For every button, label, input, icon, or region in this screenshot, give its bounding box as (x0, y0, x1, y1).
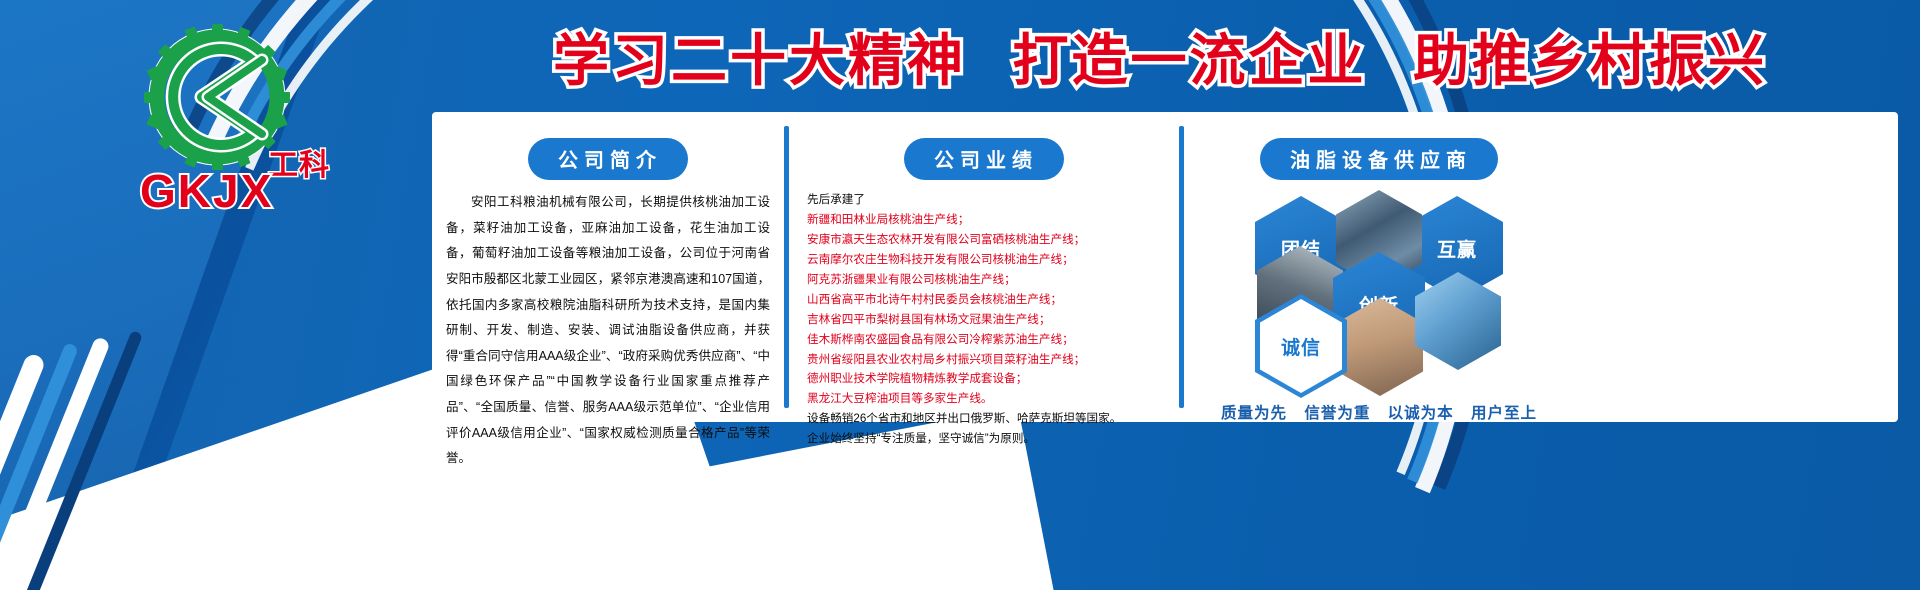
performance-project: 山西省高平市北诗午村村民委员会核桃油生产线； (807, 290, 1165, 310)
logo-chinese-name: 工科 (268, 140, 330, 184)
panel-company-intro-badge: 公司简介 (528, 138, 688, 180)
tagline-word: 以诚为本 (1388, 405, 1454, 422)
performance-lead: 先后承建了 (807, 190, 1165, 210)
company-logo: 工科 GKJX (118, 22, 348, 212)
panel-company-performance: 公司业绩 先后承建了 新疆和田林业局核桃油生产线； 安康市瀛天生态农林开发有限公… (789, 112, 1179, 422)
panel-company-intro-body: 安阳工科粮油机械有限公司，长期提供核桃油加工设备，菜籽油加工设备，亚麻油加工设备… (446, 190, 770, 472)
hexagon-cluster: 团结 互赢 创新 诚信 (1199, 190, 1559, 385)
supplier-tagline: 质量为先 信誉为重 以诚为本 用户至上 (1198, 401, 1560, 423)
performance-project: 佳木斯桦南农盛园食品有限公司冷榨紫苏油生产线； (807, 330, 1165, 350)
tagline-word: 用户至上 (1471, 405, 1537, 422)
content-board: 公司简介 安阳工科粮油机械有限公司，长期提供核桃油加工设备，菜籽油加工设备，亚麻… (432, 112, 1898, 422)
headline-part-1: 学习二十大精神 (553, 29, 966, 92)
banner-canvas: 工科 GKJX 学习二十大精神 打造一流企业 助推乡村振兴 公司简介 安阳工科粮… (0, 0, 1920, 590)
headline-part-2: 打造一流企业 (1013, 29, 1367, 92)
building-photo-hex (1415, 272, 1501, 370)
hex-label: 诚信 (1255, 294, 1347, 398)
panel-supplier-badge: 油脂设备供应商 (1260, 138, 1498, 180)
performance-project: 阿克苏浙疆果业有限公司核桃油生产线； (807, 270, 1165, 290)
tagline-word: 信誉为重 (1304, 405, 1370, 422)
panel-company-performance-body: 先后承建了 新疆和田林业局核桃油生产线； 安康市瀛天生态农林开发有限公司富硒核桃… (803, 190, 1165, 449)
headline-part-3: 助推乡村振兴 (1413, 29, 1767, 92)
performance-project: 新疆和田林业局核桃油生产线； (807, 210, 1165, 230)
performance-tail-line: 企业始终坚持“专注质量，坚守诚信”为原则。 (807, 429, 1165, 449)
panel-company-performance-badge: 公司业绩 (904, 138, 1064, 180)
performance-project: 贵州省绥阳县农业农村局乡村振兴项目菜籽油生产线； (807, 350, 1165, 370)
panel-company-intro: 公司简介 安阳工科粮油机械有限公司，长期提供核桃油加工设备，菜籽油加工设备，亚麻… (432, 112, 784, 422)
company-intro-paragraph: 安阳工科粮油机械有限公司，长期提供核桃油加工设备，菜籽油加工设备，亚麻油加工设备… (446, 190, 770, 472)
tagline-word: 质量为先 (1221, 405, 1287, 422)
hex-value-chengxin: 诚信 (1255, 294, 1347, 398)
performance-project: 黑龙江大豆榨油项目等多家生产线。 (807, 389, 1165, 409)
performance-project: 德州职业技术学院植物精炼教学成套设备； (807, 369, 1165, 389)
performance-tail-line: 设备畅销26个省市和地区并出口俄罗斯、哈萨克斯坦等国家。 (807, 409, 1165, 429)
performance-project: 安康市瀛天生态农林开发有限公司富硒核桃油生产线； (807, 230, 1165, 250)
performance-project: 云南摩尔农庄生物科技开发有限公司核桃油生产线； (807, 250, 1165, 270)
hex-label: 互赢 (1437, 235, 1477, 262)
logo-latin-name: GKJX (140, 164, 273, 218)
panel-supplier: 油脂设备供应商 团结 互赢 创新 诚信 (1184, 112, 1574, 422)
page-title: 学习二十大精神 打造一流企业 助推乡村振兴 (420, 16, 1900, 97)
performance-project: 吉林省四平市梨树县国有林场文冠果油生产线； (807, 310, 1165, 330)
